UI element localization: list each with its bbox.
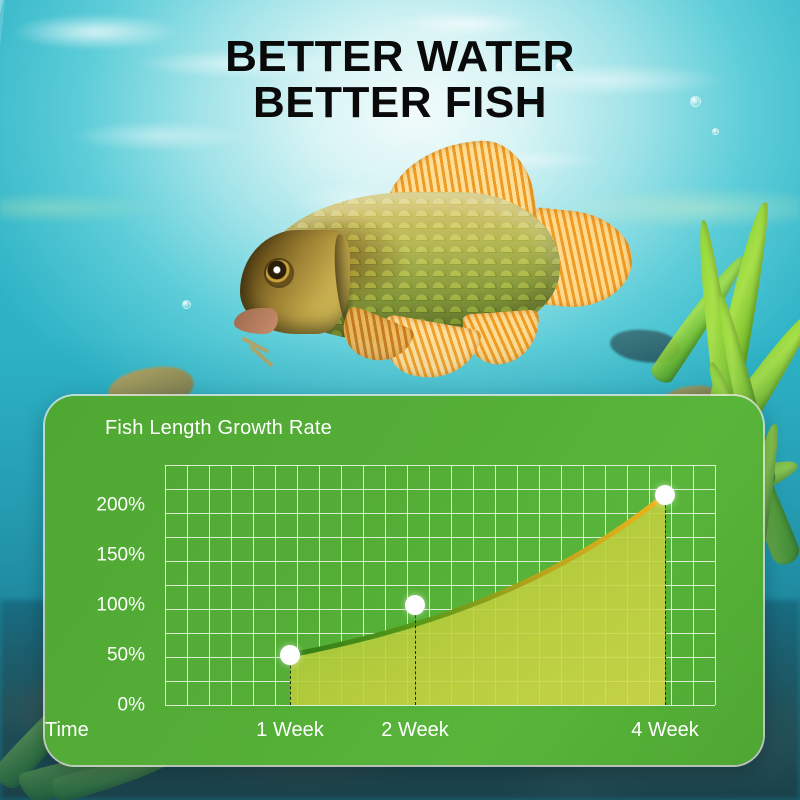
y-axis-tick-label: 50%	[107, 646, 145, 665]
chart-panel: Fish Length Growth Rate	[45, 396, 763, 765]
growth-curve	[165, 465, 715, 705]
data-point-marker[interactable]	[280, 645, 300, 665]
x-axis-tick-label: 4 Week	[631, 719, 698, 741]
y-axis-tick-label: 200%	[96, 496, 145, 515]
y-axis-labels: 200%150%100%50%0%	[45, 465, 157, 705]
x-axis-tick-label: 2 Week	[381, 719, 448, 741]
headline: BETTER WATER BETTER FISH	[0, 34, 800, 126]
data-point-dropline	[665, 495, 666, 705]
chart-plot-area: 200%150%100%50%0% Time1 Week2 Week4 Week	[165, 465, 715, 705]
headline-line-1: BETTER WATER	[0, 34, 800, 80]
y-axis-tick-label: 150%	[96, 546, 145, 565]
data-point-marker[interactable]	[655, 485, 675, 505]
data-point-marker[interactable]	[405, 595, 425, 615]
gridline-horizontal	[165, 705, 715, 706]
y-axis-tick-label: 100%	[96, 596, 145, 615]
data-point-dropline	[415, 605, 416, 705]
x-axis-caption: Time	[45, 719, 89, 741]
gridline-vertical	[715, 465, 716, 705]
headline-line-2: BETTER FISH	[0, 80, 800, 126]
x-axis-labels: Time1 Week2 Week4 Week	[45, 713, 715, 753]
promo-banner: BETTER WATER BETTER FISH Fish Length Gro…	[0, 0, 800, 800]
x-axis-tick-label: 1 Week	[256, 719, 323, 741]
chart-title: Fish Length Growth Rate	[105, 417, 332, 440]
y-axis-tick-label: 0%	[118, 696, 145, 715]
